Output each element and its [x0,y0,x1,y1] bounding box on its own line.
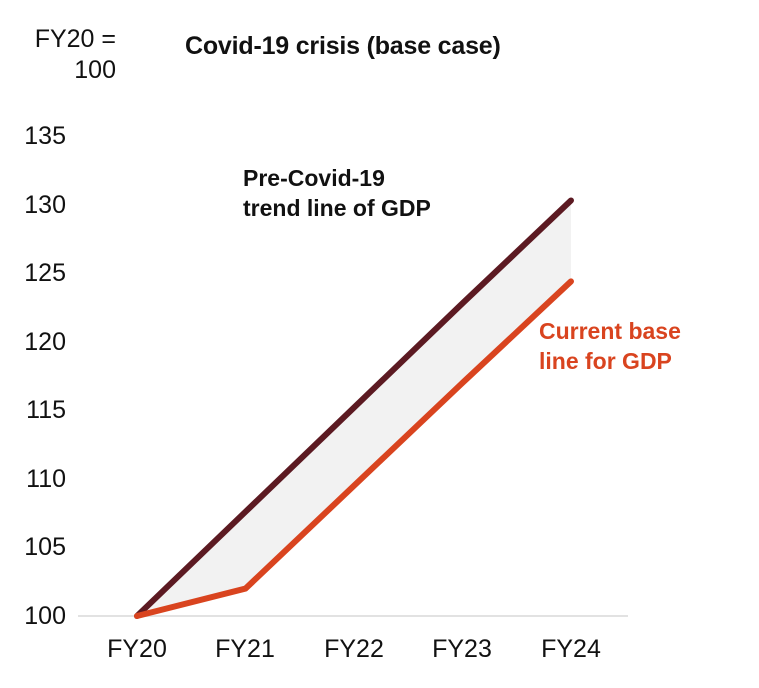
annotation-pre-covid-trend: Pre-Covid-19 trend line of GDP [243,163,431,223]
x-tick-label: FY23 [402,635,522,663]
annotation-current-base: Current base line for GDP [539,316,681,376]
y-tick-label: 110 [0,467,66,492]
y-tick-label: 105 [0,535,66,560]
chart-canvas: FY20 = 100 Covid-19 crisis (base case) 1… [0,0,759,688]
y-tick-label: 115 [0,398,66,423]
y-tick-label: 130 [0,193,66,218]
x-tick-label: FY24 [511,635,631,663]
series-line-pre-covid-trend [137,200,571,616]
x-tick-label: FY21 [185,635,305,663]
y-tick-label: 120 [0,330,66,355]
x-tick-label: FY20 [77,635,197,663]
y-tick-label: 135 [0,124,66,149]
y-tick-label: 125 [0,261,66,286]
y-tick-label: 100 [0,604,66,629]
x-tick-label: FY22 [294,635,414,663]
